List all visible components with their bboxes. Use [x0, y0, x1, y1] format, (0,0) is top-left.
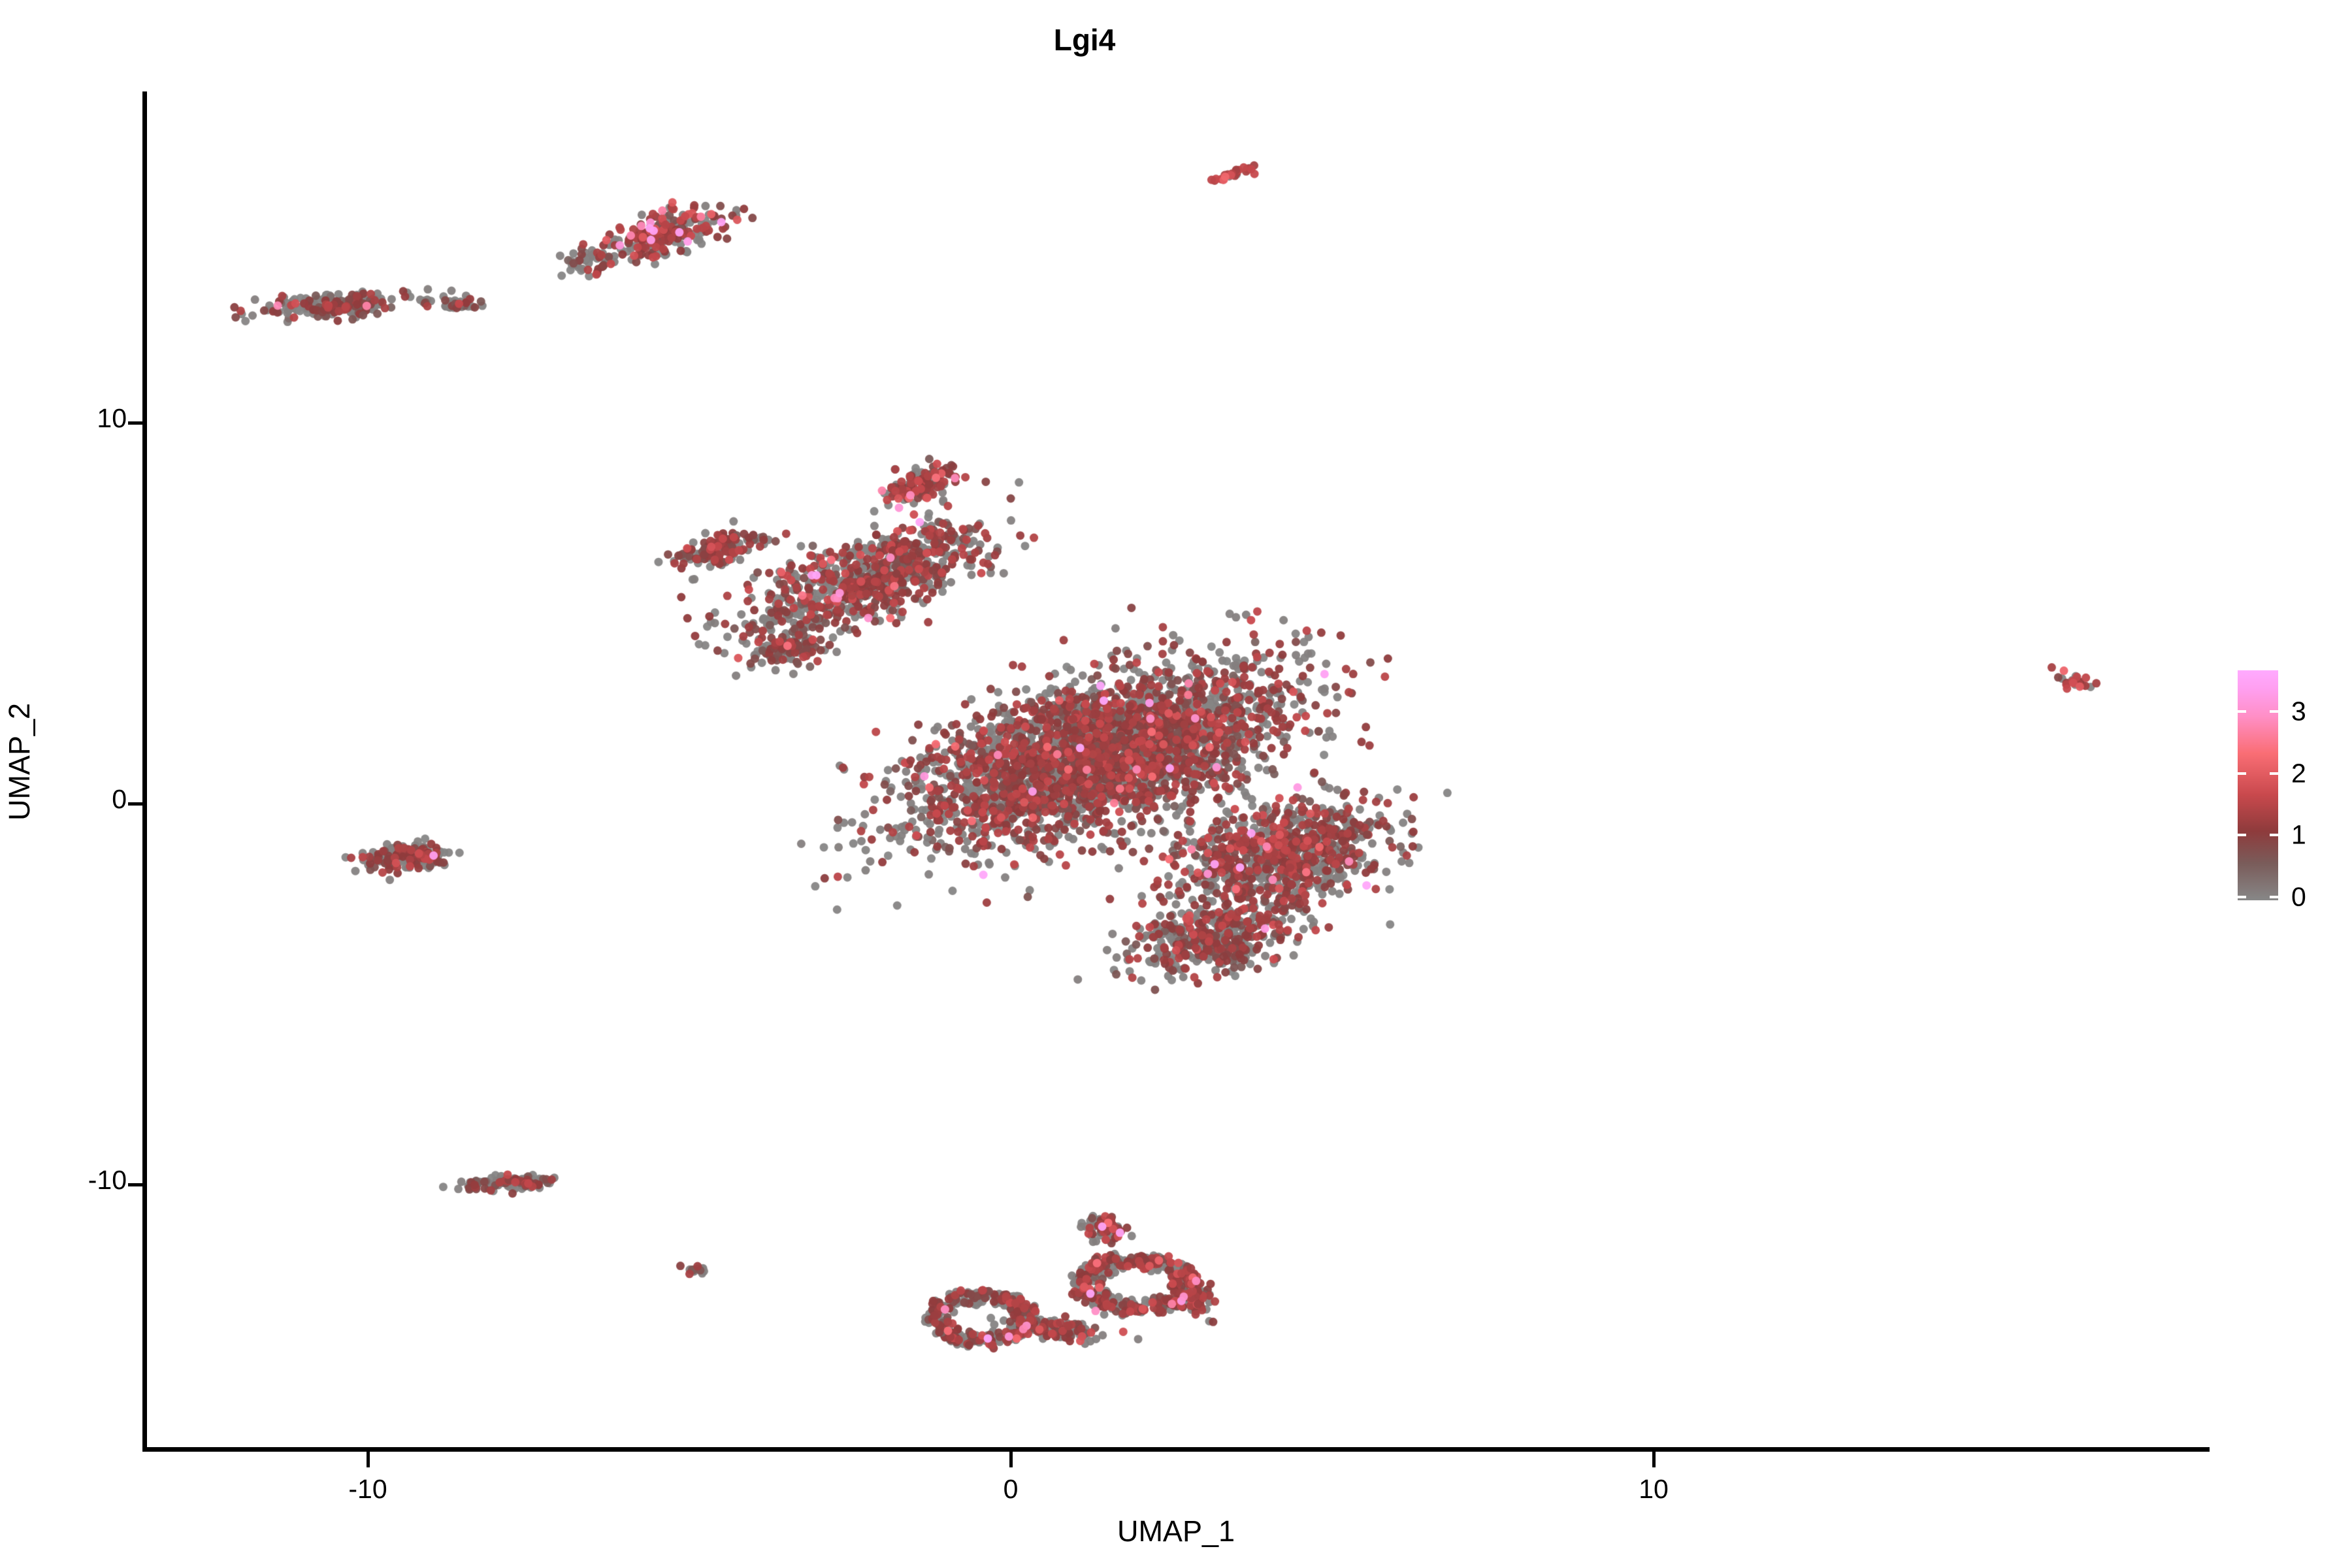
colorbar-label-1: 1: [2291, 820, 2306, 851]
y-axis-tick-neg10: [128, 1183, 144, 1186]
colorbar-tick-0-left: [2238, 896, 2246, 898]
y-axis-tick-0: [128, 802, 144, 806]
colorbar-legend[interactable]: 3 2 1 0: [2238, 670, 2336, 900]
colorbar-tick-2-left: [2238, 772, 2246, 775]
colorbar-gradient: [2238, 670, 2278, 900]
x-axis-title: UMAP_1: [142, 1514, 2210, 1548]
colorbar-tick-0-right: [2270, 896, 2278, 898]
umap-feature-plot: Lgi4 10 0 -10 -10 0 10 UMAP_1 UMAP_2 3 2…: [0, 0, 2352, 1568]
x-axis-label-10: 10: [1639, 1474, 1669, 1505]
colorbar-tick-2-right: [2270, 772, 2278, 775]
y-axis-label-10: 10: [97, 403, 127, 434]
y-axis-label-neg10: -10: [88, 1165, 127, 1196]
x-axis-line: [142, 1447, 2210, 1452]
x-axis-tick-0: [1009, 1452, 1013, 1467]
y-axis-tick-10: [128, 421, 144, 425]
x-axis-label-0: 0: [1004, 1474, 1019, 1505]
x-axis-tick-10: [1652, 1452, 1656, 1467]
y-axis-title: UMAP_2: [3, 631, 37, 892]
colorbar-label-3: 3: [2291, 696, 2306, 727]
colorbar-tick-1-left: [2238, 834, 2246, 836]
colorbar-label-0: 0: [2291, 882, 2306, 913]
plot-panel[interactable]: [145, 91, 2208, 1445]
y-axis-label-0: 0: [112, 784, 127, 815]
colorbar-label-2: 2: [2291, 759, 2306, 789]
y-axis-line: [142, 91, 147, 1452]
colorbar-tick-3-right: [2270, 710, 2278, 713]
colorbar-tick-3-left: [2238, 710, 2246, 713]
scatter-canvas[interactable]: [145, 91, 2208, 1445]
x-axis-label-neg10: -10: [348, 1474, 387, 1505]
colorbar-tick-1-right: [2270, 834, 2278, 836]
page-title: Lgi4: [0, 22, 2169, 57]
x-axis-tick-neg10: [367, 1452, 370, 1467]
